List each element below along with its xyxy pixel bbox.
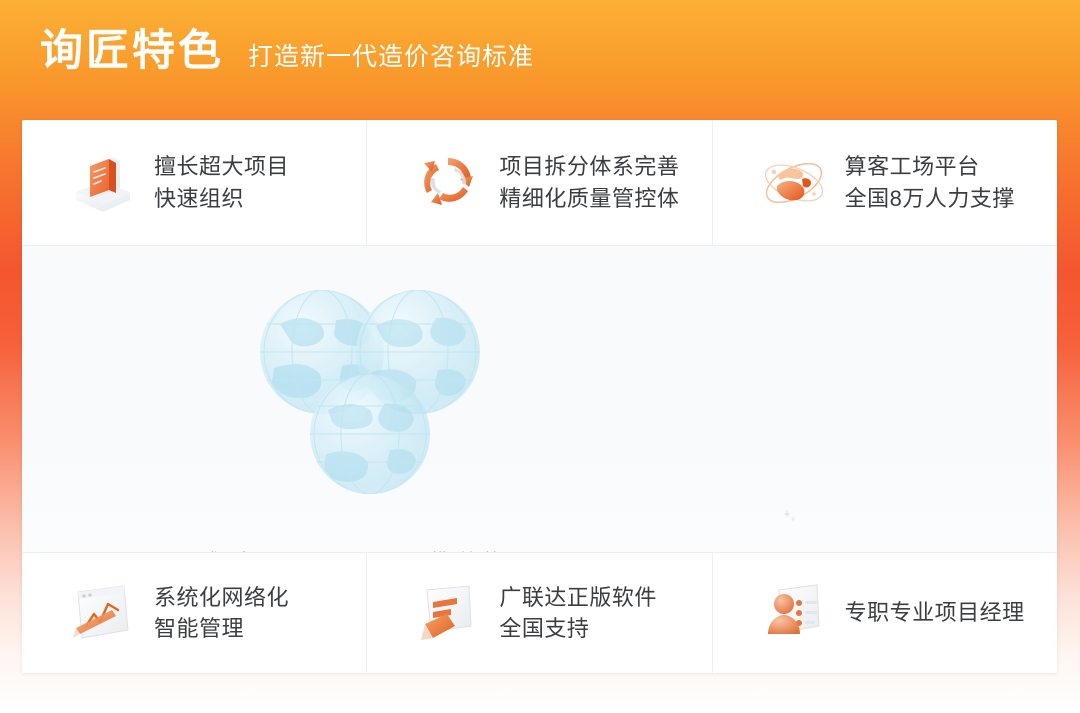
chart-window-icon bbox=[66, 576, 140, 650]
page-subtitle: 打造新一代造价咨询标准 bbox=[248, 45, 534, 70]
globes-illustration bbox=[250, 284, 500, 499]
user-card-icon bbox=[757, 576, 831, 650]
feature-card-smart-management[interactable]: 系统化网络化 智能管理 bbox=[22, 553, 367, 673]
feature-line-2: 精细化质量管控体 bbox=[499, 183, 679, 214]
feature-line-1: 广联达正版软件 bbox=[499, 585, 657, 610]
feature-card-text: 项目拆分体系完善 精细化质量管控体 bbox=[499, 151, 679, 213]
showcase-section: 标准化 流程化 在线化 需求服务界限 质量奖惩标准 成果交付标准 人员入库标准 … bbox=[22, 245, 1057, 553]
feature-line-2: 全国8万人力支撑 bbox=[845, 183, 1015, 214]
recycle-arrows-icon bbox=[411, 146, 485, 220]
document-pen-icon bbox=[411, 576, 485, 650]
feature-card-text: 广联达正版软件 全国支持 bbox=[499, 582, 657, 644]
feature-line-2: 全国支持 bbox=[499, 613, 657, 644]
sparkle-icon bbox=[782, 508, 798, 524]
feature-card-software[interactable]: 广联达正版软件 全国支持 bbox=[367, 553, 712, 673]
feature-line-1: 专职专业项目经理 bbox=[845, 600, 1025, 625]
page-root: 询匠特色 打造新一代造价咨询标准 bbox=[0, 0, 1080, 713]
feature-line-1: 项目拆分体系完善 bbox=[499, 154, 679, 179]
globe-network-icon bbox=[757, 146, 831, 220]
feature-card-text: 系统化网络化 智能管理 bbox=[154, 582, 289, 644]
page-header: 询匠特色 打造新一代造价咨询标准 bbox=[40, 30, 534, 73]
feature-row-top: 擅长超大项目 快速组织 bbox=[22, 120, 1057, 245]
feature-card-large-project[interactable]: 擅长超大项目 快速组织 bbox=[22, 120, 367, 245]
feature-card-text: 算客工场平台 全国8万人力支撑 bbox=[845, 151, 1015, 213]
feature-line-2: 快速组织 bbox=[154, 183, 289, 214]
feature-card-platform[interactable]: 算客工场平台 全国8万人力支撑 bbox=[713, 120, 1057, 245]
feature-card-project-split[interactable]: 项目拆分体系完善 精细化质量管控体 bbox=[367, 120, 712, 245]
feature-card-project-manager[interactable]: 专职专业项目经理 bbox=[713, 553, 1057, 673]
feature-line-1: 擅长超大项目 bbox=[154, 154, 289, 179]
feature-row-bottom: 系统化网络化 智能管理 bbox=[22, 553, 1057, 673]
features-panel: 擅长超大项目 快速组织 bbox=[22, 120, 1057, 673]
feature-line-1: 算客工场平台 bbox=[845, 154, 980, 179]
feature-card-text: 擅长超大项目 快速组织 bbox=[154, 151, 289, 213]
feature-card-text: 专职专业项目经理 bbox=[845, 597, 1025, 628]
feature-line-2: 智能管理 bbox=[154, 613, 289, 644]
tag-item: 模型复核 bbox=[431, 546, 501, 553]
page-title: 询匠特色 bbox=[40, 30, 224, 73]
tag-item: 需求服务界限 bbox=[188, 546, 287, 553]
book-in-tray-icon bbox=[66, 146, 140, 220]
feature-line-1: 系统化网络化 bbox=[154, 585, 289, 610]
